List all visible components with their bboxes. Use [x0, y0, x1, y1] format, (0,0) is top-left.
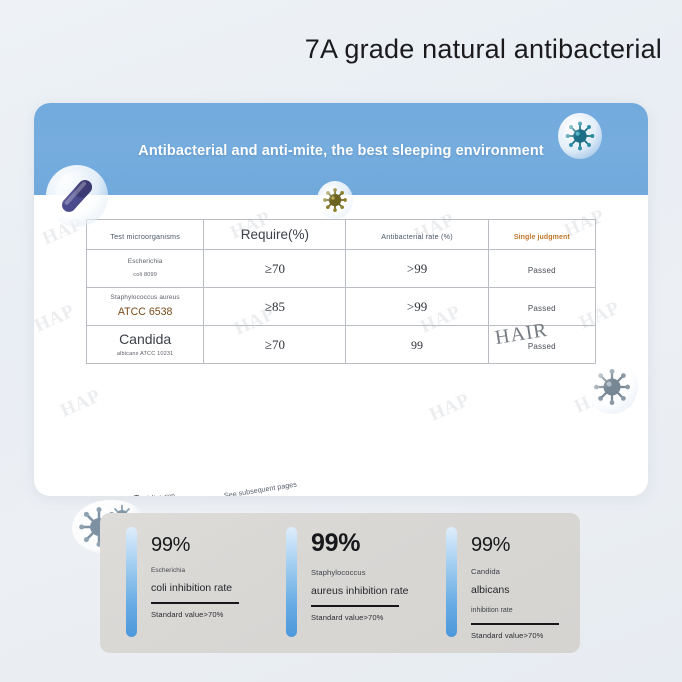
watermark-hap: HAP [34, 300, 78, 337]
stat-species-sub: inhibition rate [471, 606, 559, 615]
row-genus: Candida [88, 331, 202, 349]
row-strain: ATCC 6538 [88, 306, 202, 319]
watermark-hap: HAP [39, 213, 86, 250]
stat-species: albicans [471, 583, 559, 597]
stat-species: aureus inhibition rate [311, 584, 408, 598]
stat-genus: Escherichia [151, 567, 239, 574]
progress-bar [126, 527, 137, 637]
stat-genus: Staphylococcus [311, 568, 408, 577]
row-genus: Escherichia [88, 258, 202, 266]
col-header-microorganisms: Test microorganisms [110, 232, 180, 241]
antibacterial-report-card: Antibacterial and anti-mite, the best sl… [34, 103, 648, 496]
row-rate: >99 [407, 299, 427, 314]
col-header-rate: Antibacterial rate (%) [381, 232, 453, 241]
stat-percent: 99% [151, 535, 239, 555]
progress-bar [286, 527, 297, 637]
see-subsequent-pages-note: See subsequent pages [223, 480, 297, 496]
stat-genus: Candida [471, 567, 559, 576]
inhibition-rate-panel: 99% Escherichia coli inhibition rate Sta… [100, 513, 580, 653]
col-header-judgment: Single judgment [514, 234, 570, 241]
stat-card-candida: 99% Candida albicans inhibition rate Sta… [420, 513, 580, 653]
stat-card-staphylococcus: 99% Staphylococcus aureus inhibition rat… [260, 513, 420, 653]
row-require: ≥70 [265, 337, 285, 352]
page-title: 7A grade natural antibacterial [0, 34, 662, 65]
table-row: Staphylococcus aureus ATCC 6538 ≥85 >99 … [87, 288, 596, 326]
stat-standard-value: Standard value>70% [311, 613, 408, 622]
stat-species: coli inhibition rate [151, 581, 239, 595]
watermark-hap: HAP [571, 381, 618, 418]
divider [151, 602, 239, 604]
banner-title: Antibacterial and anti-mite, the best sl… [34, 143, 648, 159]
stat-standard-value: Standard value>70% [151, 610, 239, 619]
watermark-hap: HAP [426, 389, 473, 426]
row-rate: >99 [407, 261, 427, 276]
stat-percent: 99% [471, 535, 559, 555]
row-require: ≥85 [265, 299, 285, 314]
row-rate: 99 [411, 338, 423, 352]
row-require: ≥70 [265, 261, 285, 276]
row-genus: Staphylococcus aureus [88, 294, 202, 302]
divider [311, 605, 399, 607]
row-strain: coli 8099 [88, 272, 202, 279]
row-judgment: Passed [528, 304, 556, 313]
row-strain: albicans ATCC 10231 [88, 351, 202, 358]
stat-percent: 99% [311, 531, 408, 556]
watermark-hap: HAP [57, 385, 104, 422]
table-header-row: Test microorganisms Require(%) Antibacte… [87, 220, 596, 250]
progress-bar [446, 527, 457, 637]
divider [471, 623, 559, 625]
table-row: Escherichia coli 8099 ≥70 >99 Passed [87, 250, 596, 288]
col-header-require: Require(%) [241, 227, 309, 242]
stat-card-escherichia: 99% Escherichia coli inhibition rate Sta… [100, 513, 260, 653]
stat-standard-value: Standard value>70% [471, 631, 559, 640]
row-judgment: Passed [528, 266, 556, 275]
